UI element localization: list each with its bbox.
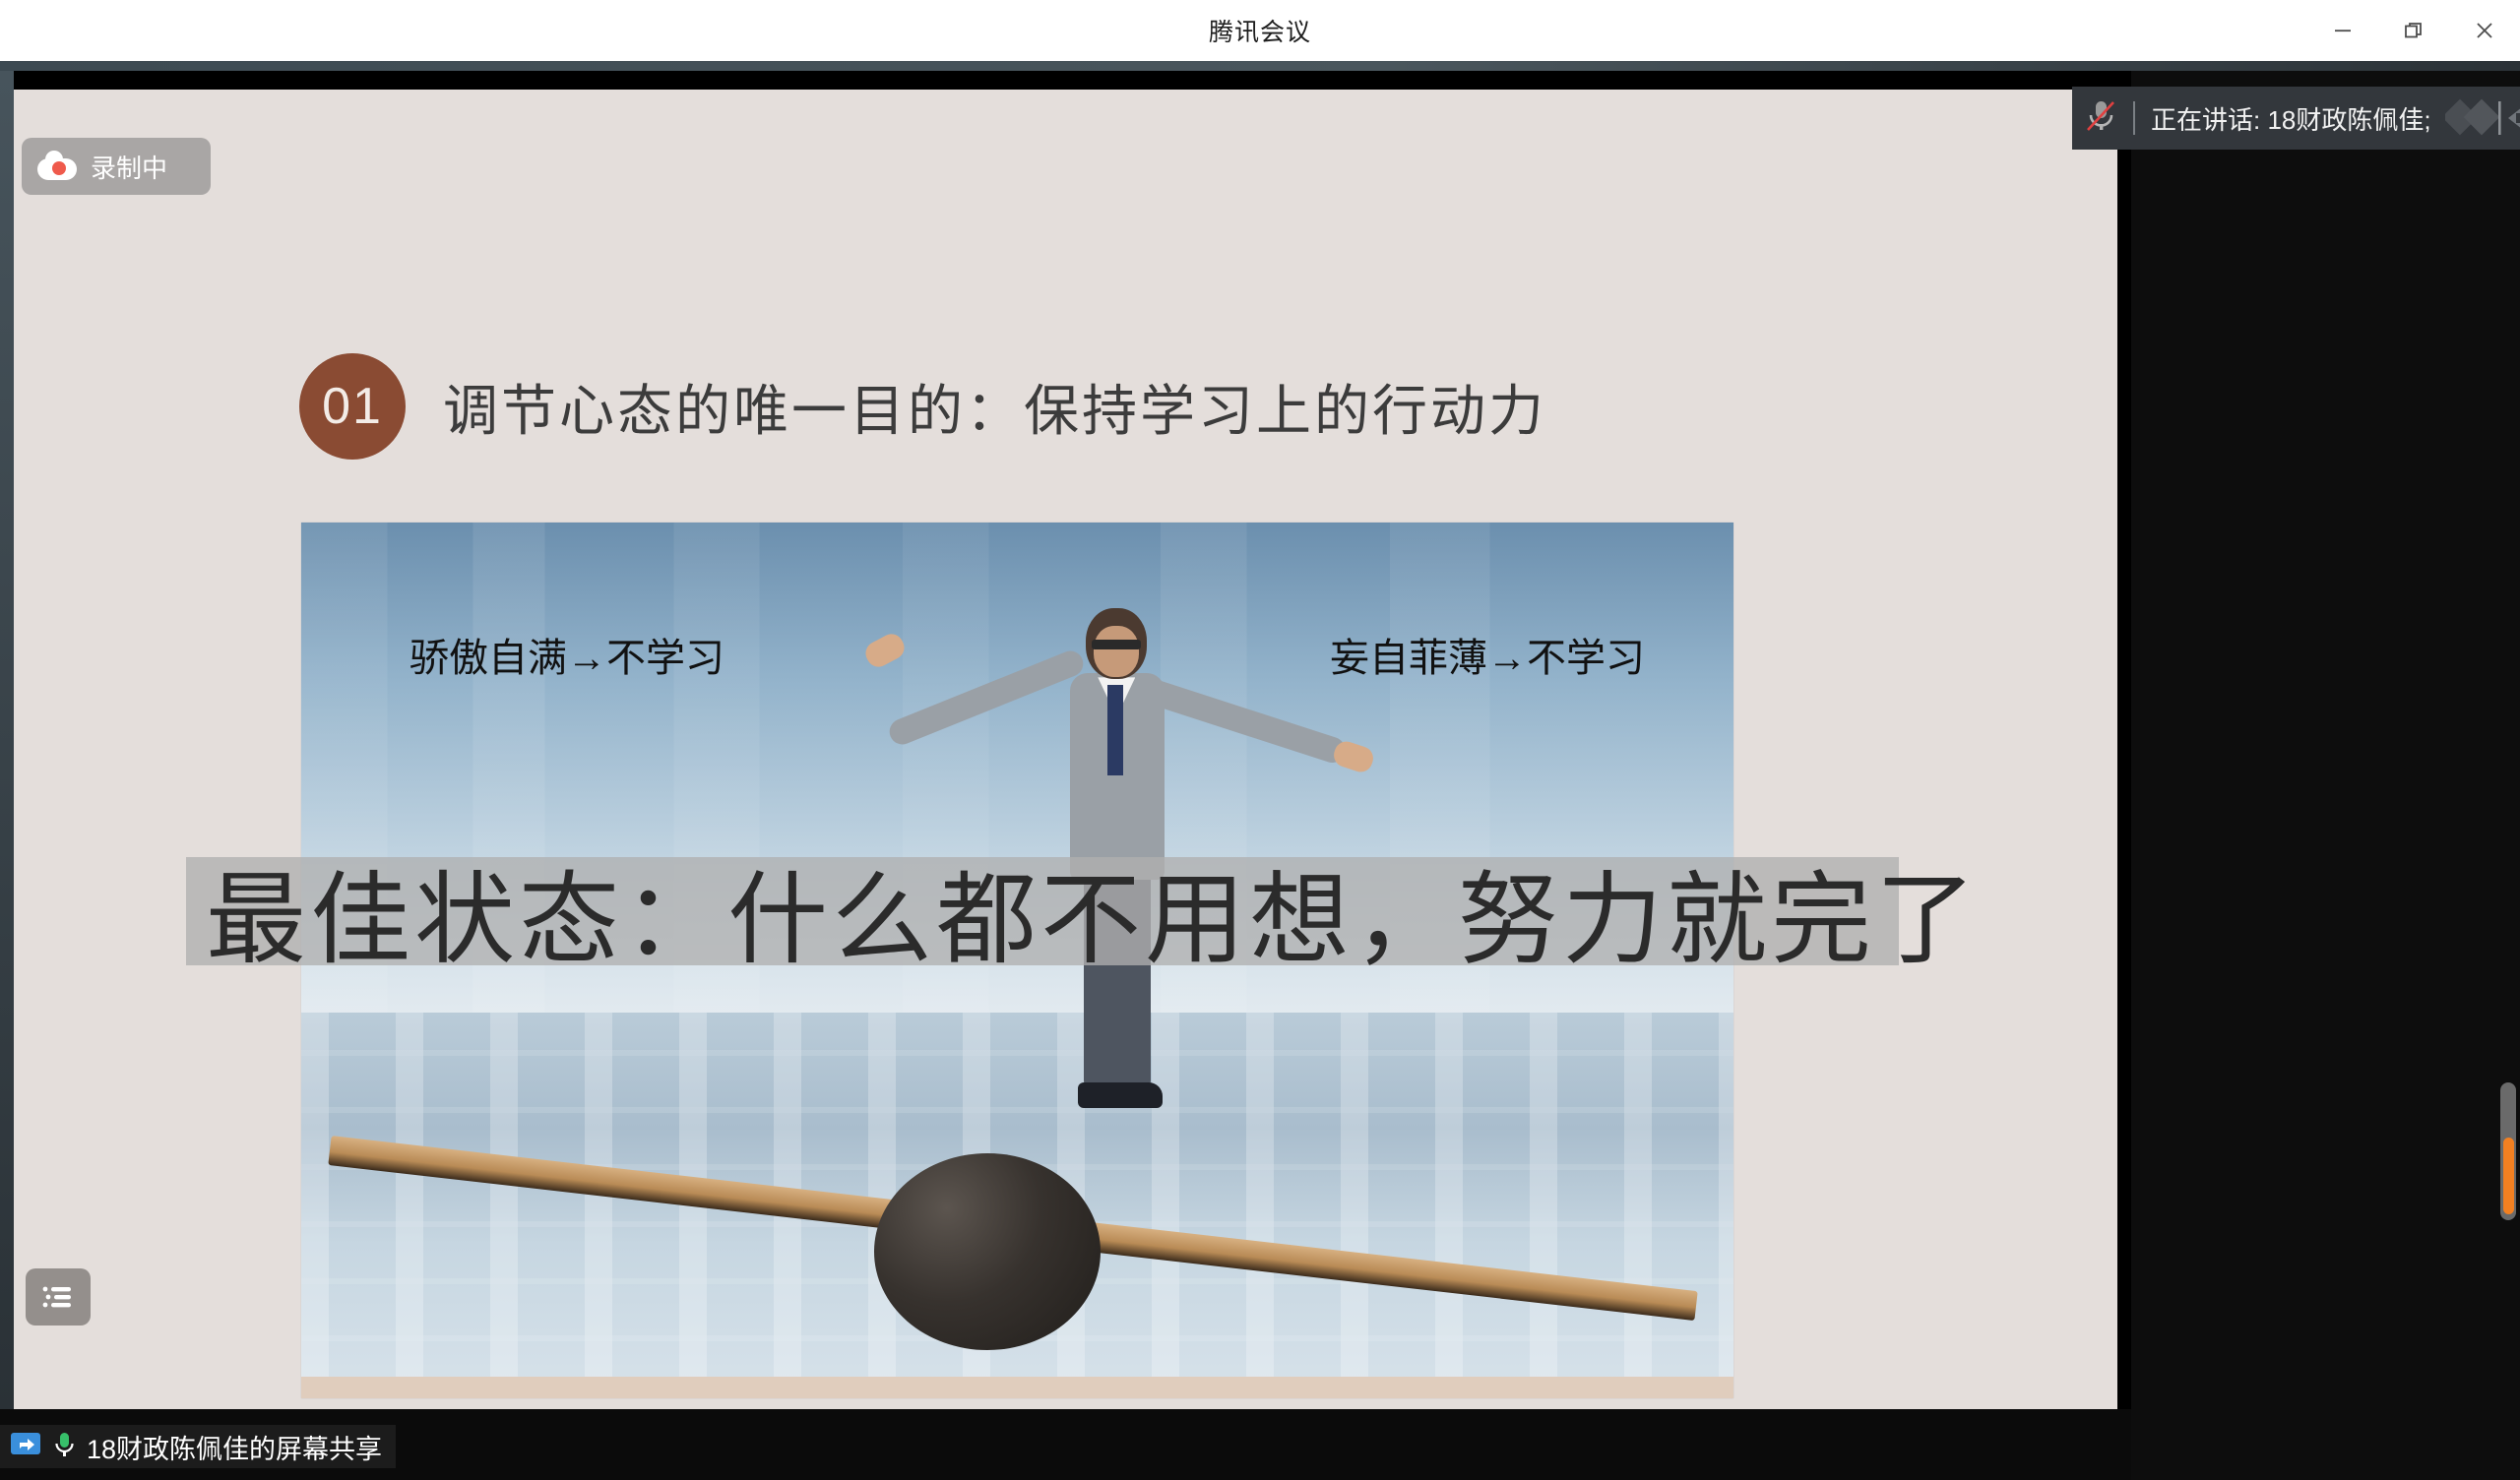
cloud-record-icon [37,153,77,180]
screen-share-icon [10,1431,41,1463]
man-face [1094,626,1139,677]
sidebar-scrollbar-thumb[interactable] [2503,1138,2514,1214]
close-icon[interactable] [2449,0,2520,61]
mic-muted-icon [2084,97,2117,140]
stage-left-border [0,71,14,1409]
image-label-right: 妄自菲薄→不学习 [1330,626,1645,683]
man-glasses [1092,640,1141,649]
title-bar: 腾讯会议 [0,0,2520,62]
window-controls [2307,0,2520,61]
speaker-divider [2133,101,2135,135]
man-tie [1107,685,1123,775]
restore-icon[interactable] [2378,0,2449,61]
mic-on-icon [51,1430,77,1464]
active-speaker-bar: 正在讲话: 18财政陈佩佳; [2072,87,2520,150]
collapse-arrow-icon[interactable] [2445,87,2520,150]
list-outline-icon[interactable] [26,1268,91,1326]
window-frame-top [0,61,2520,71]
tencent-meeting-window: 腾讯会议 01 调节心态的唯一目的：保持学习上的行动 [0,0,2520,1480]
slide-heading: 01 调节心态的唯一目的：保持学习上的行动力 [299,353,1546,460]
participants-sidebar: 刘唯贤 蔡金洪 18财政陈佩佳 19税收马心怡 [2131,71,2520,1480]
slide-number-badge: 01 [299,353,406,460]
sidebar-scrollbar[interactable] [2500,1082,2516,1220]
slide-title: 调节心态的唯一目的：保持学习上的行动力 [443,367,1546,447]
recording-indicator[interactable]: 录制中 [22,138,211,195]
screen-share-text: 18财政陈佩佳的屏幕共享 [87,1428,382,1466]
screen-share-status: 18财政陈佩佳的屏幕共享 [0,1425,396,1468]
image-bottom-strip [301,1377,1733,1398]
slide-overlay-text: 最佳状态：什么都不用想，努力就完了 [206,839,1899,984]
minimize-icon[interactable] [2307,0,2378,61]
image-label-left: 骄傲自满→不学习 [409,626,724,683]
shared-slide: 01 调节心态的唯一目的：保持学习上的行动力 骄傲自满→不学习 妄自菲薄→不学习 [14,90,2117,1416]
recording-label: 录制中 [91,149,167,185]
active-speaker-text: 正在讲话: 18财政陈佩佳; [2151,100,2431,137]
window-title: 腾讯会议 [1209,13,1311,48]
man-shoe [1078,1082,1163,1108]
